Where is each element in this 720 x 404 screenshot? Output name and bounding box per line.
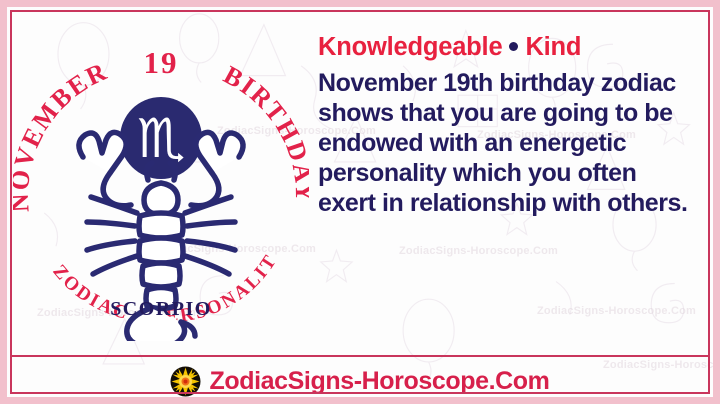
scorpio-glyph-icon: ♏: [137, 107, 185, 170]
text-pane: KnowledgeableKind November 19th birthday…: [312, 7, 713, 355]
bullet-dot-icon: [509, 42, 518, 51]
site-footer: ZodiacSigns-Horoscope.Com: [11, 355, 709, 404]
zodiac-emblem: NOVEMBER BIRTHDAY ZODIAC PERSONALITY 19: [13, 25, 309, 341]
site-name-label: ZodiacSigns-Horoscope.Com: [209, 367, 549, 396]
description-text: November 19th birthday zodiac shows that…: [318, 68, 697, 218]
traits-headline: KnowledgeableKind: [318, 33, 697, 62]
arc-day-number: 19: [144, 45, 179, 80]
trait-two: Kind: [525, 33, 581, 61]
zodiac-birthday-card: ZodiacSigns-Horoscope.Com ZodiacSigns-Ho…: [0, 0, 720, 404]
sun-logo-icon: [170, 366, 201, 397]
sign-name-label: SCORPIO: [110, 298, 212, 320]
card-content: NOVEMBER BIRTHDAY ZODIAC PERSONALITY 19: [7, 7, 713, 355]
trait-one: Knowledgeable: [318, 33, 502, 61]
emblem-pane: NOVEMBER BIRTHDAY ZODIAC PERSONALITY 19: [7, 7, 312, 355]
